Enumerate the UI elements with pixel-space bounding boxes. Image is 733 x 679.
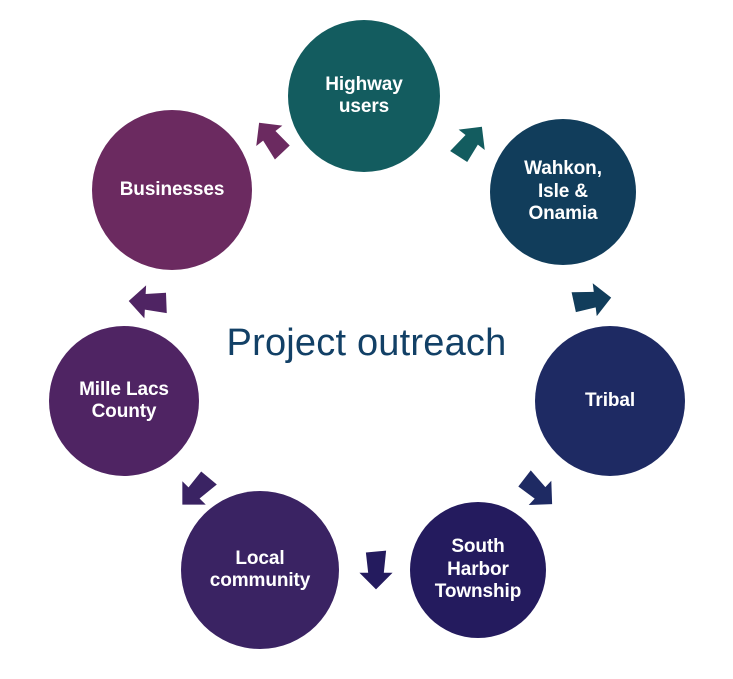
node-mille-lacs-county-label: Mille Lacs County: [73, 379, 175, 424]
node-local-community-label: Local community: [204, 548, 316, 593]
node-wahkon-isle-onamia-label: Wahkon, Isle & Onamia: [518, 158, 608, 225]
node-businesses[interactable]: Businesses: [92, 110, 252, 270]
arrow-highway-users-to-wahkon-icon: [438, 110, 503, 175]
node-south-harbor-township[interactable]: South Harbor Township: [410, 502, 546, 638]
arrow-mille-lacs-to-businesses-icon: [124, 278, 172, 326]
project-outreach-cycle-diagram: Project outreachHighway usersWahkon, Isl…: [0, 0, 733, 679]
node-tribal[interactable]: Tribal: [535, 326, 685, 476]
node-businesses-label: Businesses: [114, 179, 231, 201]
node-highway-users[interactable]: Highway users: [288, 20, 440, 172]
node-highway-users-label: Highway users: [319, 74, 408, 119]
node-local-community[interactable]: Local community: [181, 491, 339, 649]
node-wahkon-isle-onamia[interactable]: Wahkon, Isle & Onamia: [490, 119, 636, 265]
arrow-south-harbor-to-local-community-icon: [353, 547, 399, 593]
node-tribal-label: Tribal: [579, 390, 641, 412]
node-south-harbor-township-label: South Harbor Township: [429, 536, 527, 603]
node-mille-lacs-county[interactable]: Mille Lacs County: [49, 326, 199, 476]
arrow-wahkon-to-tribal-icon: [566, 274, 617, 325]
